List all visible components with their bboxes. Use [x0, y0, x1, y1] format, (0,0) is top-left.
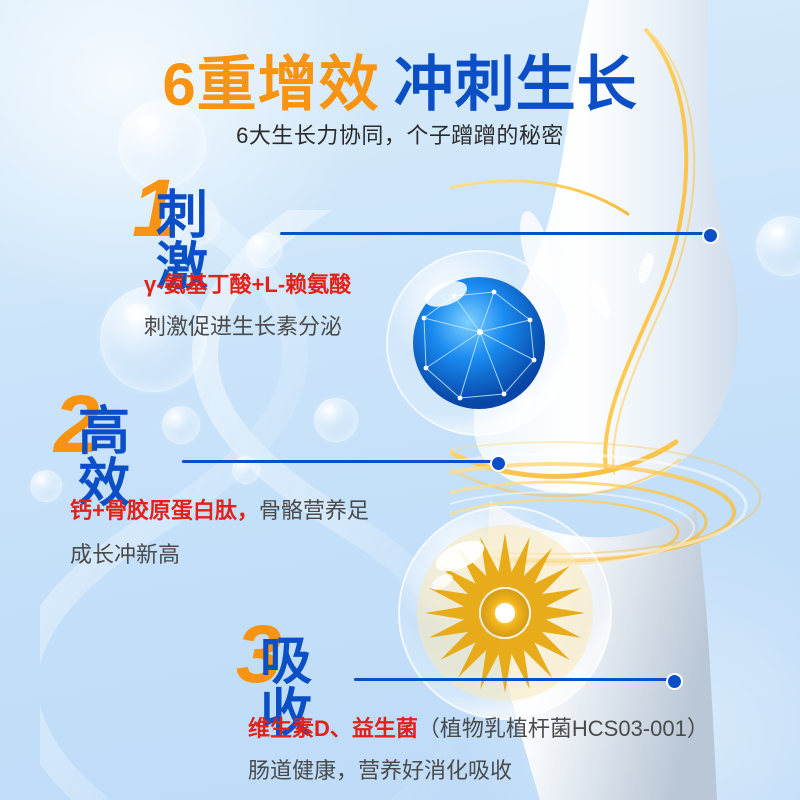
- headline-orange: 6重增效: [162, 51, 379, 118]
- section-1-desc-line1: γ-氨基丁酸+L-赖氨酸: [144, 268, 351, 302]
- bubble: [756, 216, 800, 276]
- section-3-desc-red: 维生素D、益生菌: [248, 716, 418, 741]
- headline-blue: 冲刺生长: [394, 51, 638, 118]
- section-2-rule-dot: [490, 455, 507, 472]
- section-1-rule-dot: [702, 227, 719, 244]
- section-2-desc-red: 钙+骨胶原蛋白肽，: [70, 498, 259, 523]
- section-3-desc-line1: 维生素D、益生菌（植物乳植杆菌HCS03-001）: [248, 712, 709, 746]
- promo-poster: 6重增效冲刺生长 6大生长力协同，个子蹭蹭的秘密 1 刺激 γ-氨基丁酸+L-赖…: [0, 0, 800, 800]
- section-2-desc-gray-inline: 骨骼营养足: [259, 498, 369, 523]
- section-3-desc-gray-inline: （植物乳植杆菌HCS03-001）: [418, 716, 709, 741]
- section-1-desc-line2: 刺激促进生长素分泌: [144, 310, 351, 344]
- section-3-desc-line2: 肠道健康，营养好消化吸收: [248, 754, 709, 788]
- bubble: [314, 398, 358, 442]
- section-2-desc-line2: 成长冲新高: [70, 538, 369, 572]
- section-1-description: γ-氨基丁酸+L-赖氨酸 刺激促进生长素分泌: [144, 268, 351, 344]
- section-2-desc-line1: 钙+骨胶原蛋白肽，骨骼营养足: [70, 494, 369, 528]
- section-1-rule: [280, 232, 706, 235]
- bubble: [246, 232, 282, 268]
- page-title: 6重增效冲刺生长: [0, 36, 800, 123]
- section-2-rule: [182, 460, 494, 463]
- blue-network-sphere-icon: [384, 248, 574, 438]
- section-1-desc-red: γ-氨基丁酸+L-赖氨酸: [144, 272, 351, 297]
- bubble: [162, 406, 200, 444]
- golden-burst-sphere-icon: [396, 504, 614, 722]
- bubble: [30, 470, 62, 502]
- section-3-rule: [354, 678, 670, 681]
- page-subtitle: 6大生长力协同，个子蹭蹭的秘密: [0, 118, 800, 150]
- section-2-description: 钙+骨胶原蛋白肽，骨骼营养足 成长冲新高: [70, 494, 369, 572]
- section-3-description: 维生素D、益生菌（植物乳植杆菌HCS03-001） 肠道健康，营养好消化吸收: [248, 712, 709, 788]
- section-3-rule-dot: [666, 673, 683, 690]
